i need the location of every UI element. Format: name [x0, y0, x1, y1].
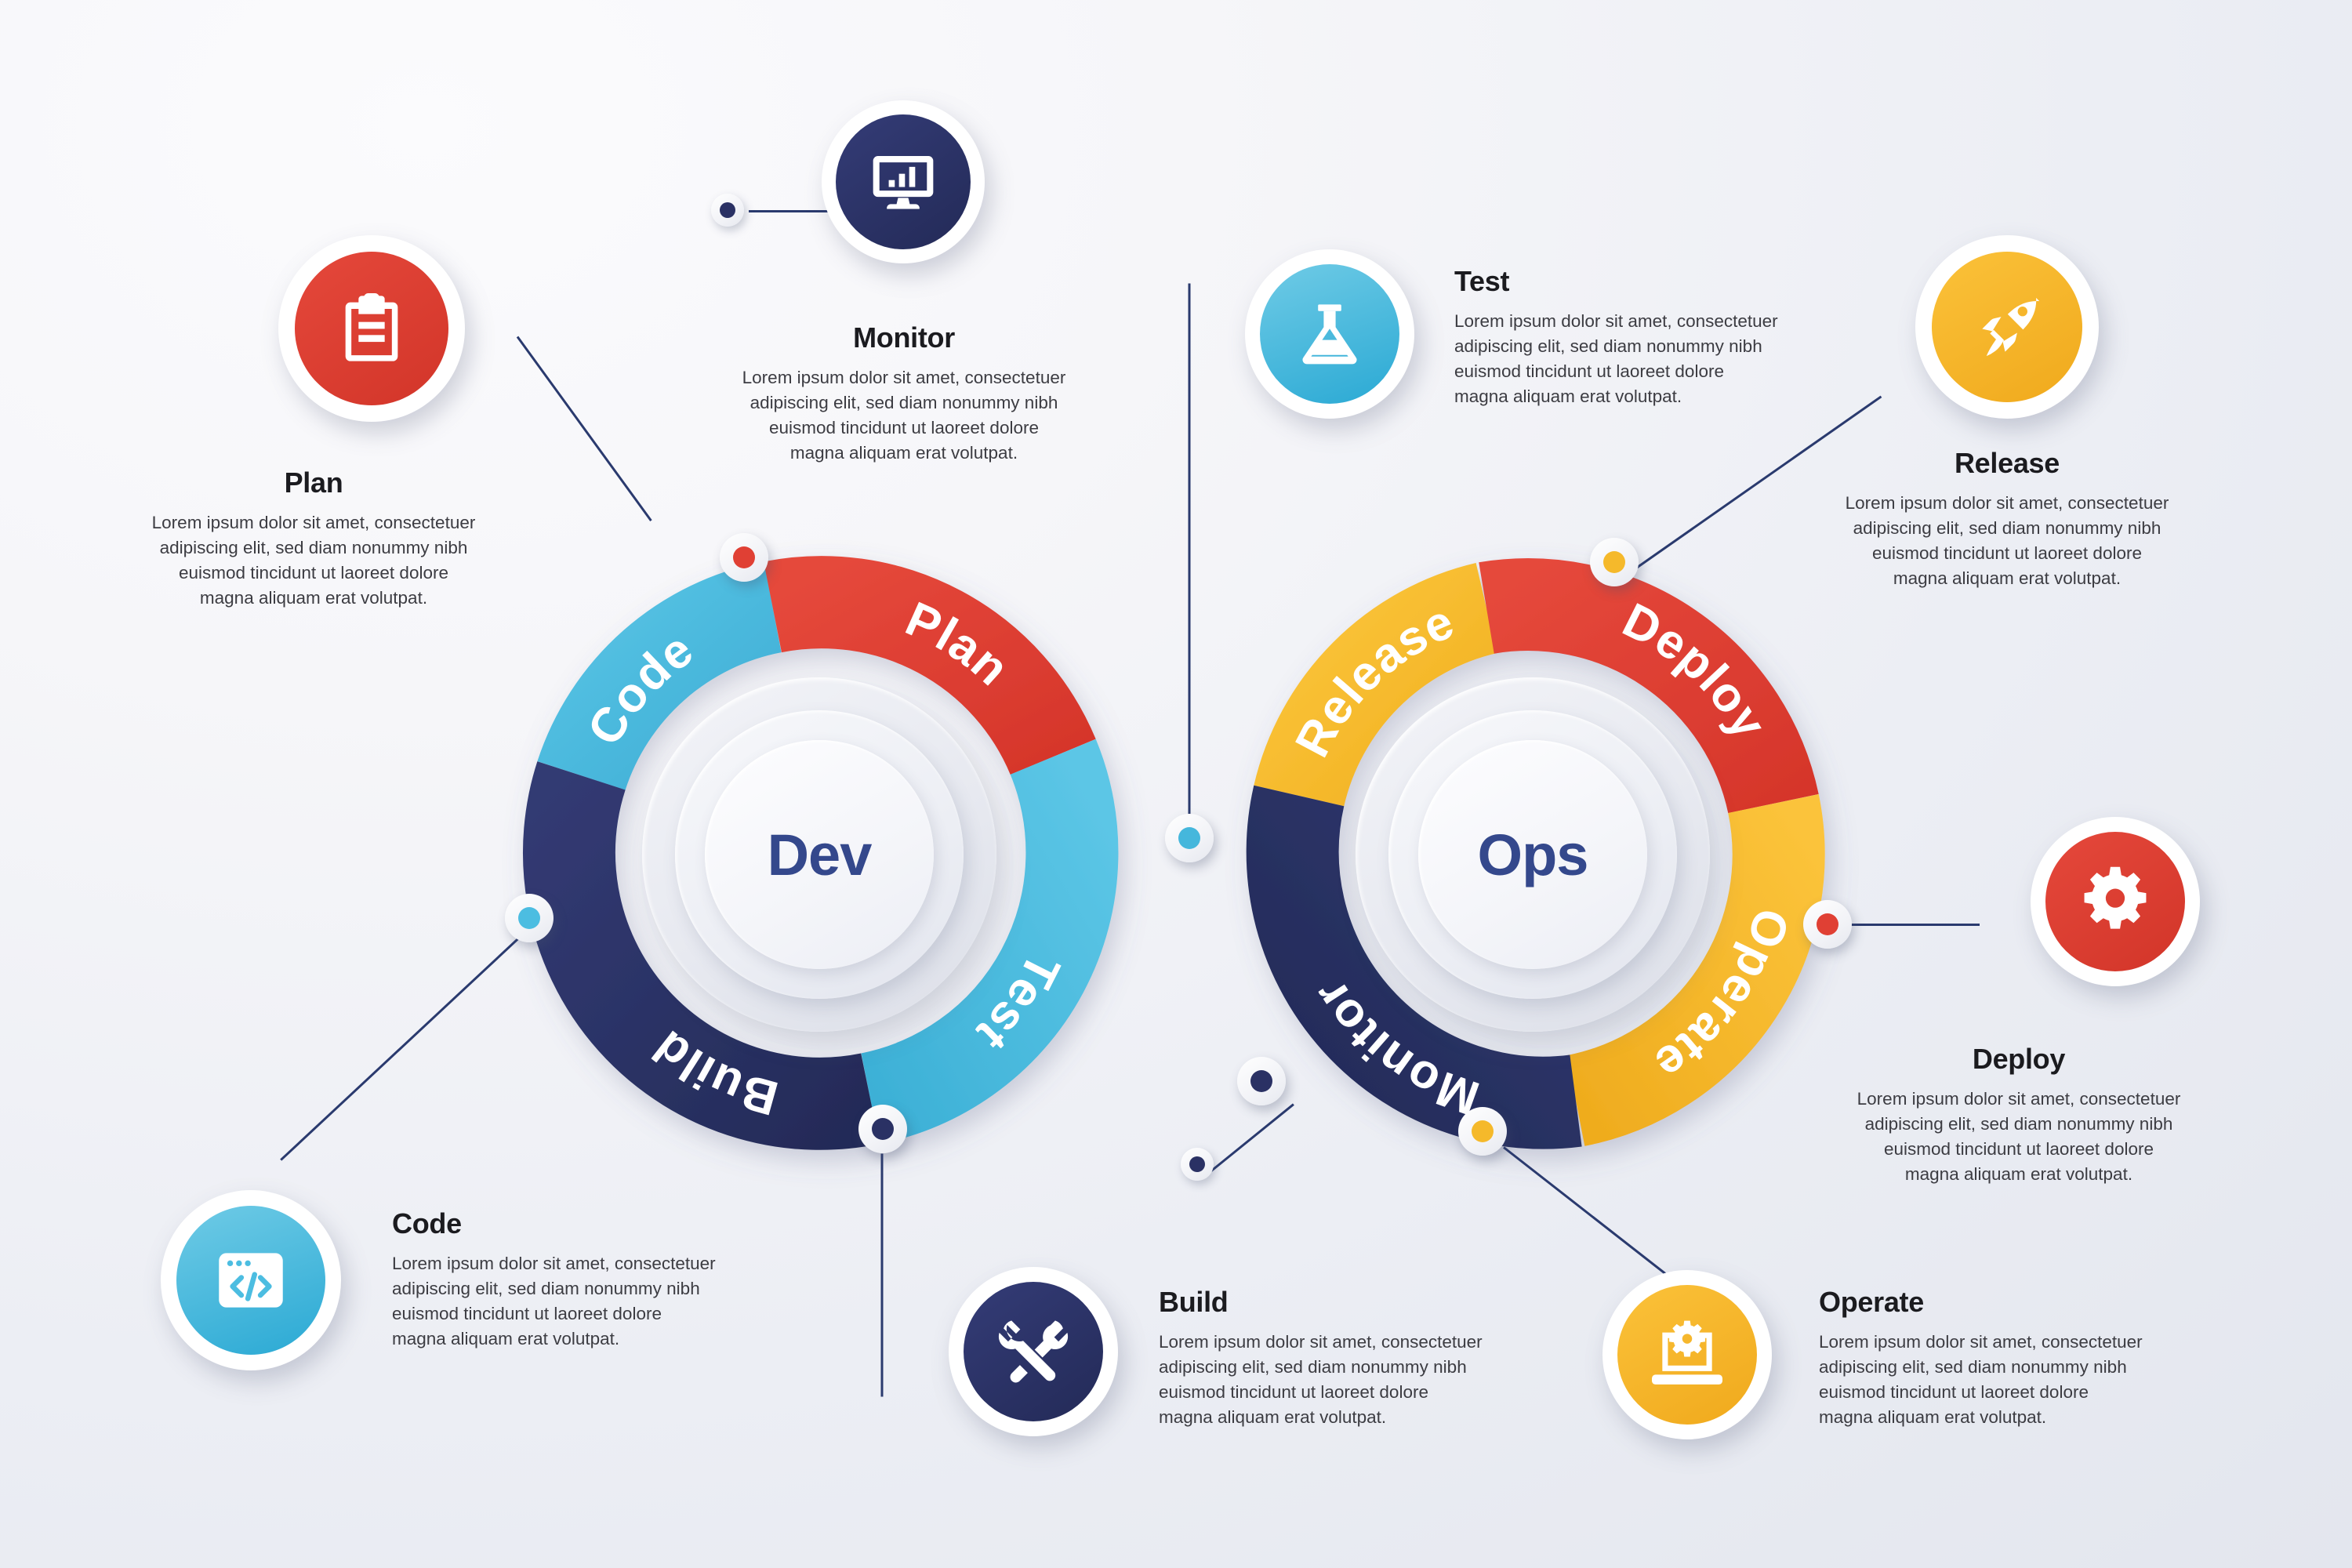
badge-operate-disc — [1617, 1285, 1757, 1425]
ops-hub-mid: Ops — [1388, 710, 1677, 999]
title-plan: Plan — [133, 466, 494, 499]
code-window-icon — [210, 1240, 292, 1321]
node-dot-deploy-core — [1817, 913, 1838, 935]
badge-code-disc — [176, 1206, 325, 1355]
rocket-icon — [1968, 288, 2046, 366]
badge-build-disc — [964, 1282, 1103, 1421]
node-dot-code[interactable] — [505, 894, 554, 942]
clipboard-icon — [332, 289, 411, 368]
ops-hub: Ops — [1356, 677, 1710, 1032]
badge-monitor[interactable] — [822, 100, 985, 263]
title-test: Test — [1454, 265, 1823, 298]
node-dot-test-center-core — [1178, 827, 1200, 849]
badge-deploy-disc — [2045, 832, 2185, 971]
leader-line-deploy — [1850, 924, 1980, 926]
dev-hub-inner: Dev — [705, 740, 934, 969]
leader-line-build — [881, 1154, 884, 1397]
node-dot-operate[interactable] — [1458, 1107, 1507, 1156]
node-dot-monitor-bottom[interactable] — [1237, 1057, 1286, 1105]
dev-hub-label: Dev — [768, 822, 872, 888]
badge-code[interactable] — [161, 1190, 341, 1370]
body-monitor: Lorem ipsum dolor sit amet, consectetuer… — [720, 365, 1088, 466]
badge-operate[interactable] — [1602, 1270, 1772, 1439]
text-block-build: Build Lorem ipsum dolor sit amet, consec… — [1159, 1286, 1527, 1430]
badge-release-disc — [1932, 252, 2082, 402]
badge-plan[interactable] — [278, 235, 465, 422]
infographic-canvas: Code Plan Test Build Release Deploy Oper… — [0, 0, 2352, 1568]
title-monitor: Monitor — [720, 321, 1088, 354]
dev-hub: Dev — [642, 677, 996, 1032]
node-dot-release[interactable] — [1590, 538, 1639, 586]
node-dot-monitor-tail[interactable] — [1181, 1148, 1214, 1181]
text-block-plan: Plan Lorem ipsum dolor sit amet, consect… — [133, 466, 494, 611]
dev-hub-mid: Dev — [675, 710, 964, 999]
node-dot-plan[interactable] — [720, 533, 768, 582]
laptop-gear-icon — [1648, 1316, 1726, 1394]
body-operate: Lorem ipsum dolor sit amet, consectetuer… — [1819, 1330, 2187, 1430]
title-build: Build — [1159, 1286, 1527, 1319]
ops-hub-label: Ops — [1478, 822, 1588, 888]
node-dot-monitor-bottom-core — [1250, 1070, 1272, 1092]
text-block-test: Test Lorem ipsum dolor sit amet, consect… — [1454, 265, 1823, 409]
monitor-chart-icon — [867, 146, 939, 218]
text-block-deploy: Deploy Lorem ipsum dolor sit amet, conse… — [1838, 1043, 2199, 1187]
node-dot-monitor-top[interactable] — [711, 194, 744, 227]
title-deploy: Deploy — [1838, 1043, 2199, 1076]
badge-deploy[interactable] — [2031, 817, 2200, 986]
title-operate: Operate — [1819, 1286, 2187, 1319]
ops-hub-inner: Ops — [1418, 740, 1647, 969]
text-block-operate: Operate Lorem ipsum dolor sit amet, cons… — [1819, 1286, 2187, 1430]
body-code: Lorem ipsum dolor sit amet, consectetuer… — [392, 1251, 760, 1352]
text-block-code: Code Lorem ipsum dolor sit amet, consect… — [392, 1207, 760, 1352]
node-dot-deploy[interactable] — [1803, 900, 1852, 949]
leader-line-test — [1189, 284, 1191, 848]
node-dot-plan-core — [733, 546, 755, 568]
badge-test-disc — [1260, 264, 1399, 404]
node-dot-build-core — [872, 1118, 894, 1140]
badge-test[interactable] — [1245, 249, 1414, 419]
gear-icon — [2074, 861, 2156, 942]
body-deploy: Lorem ipsum dolor sit amet, consectetuer… — [1838, 1087, 2199, 1187]
tools-icon — [994, 1312, 1073, 1391]
title-code: Code — [392, 1207, 760, 1240]
badge-monitor-disc — [836, 114, 971, 249]
node-dot-code-core — [518, 907, 540, 929]
node-dot-operate-core — [1472, 1120, 1494, 1142]
text-block-release: Release Lorem ipsum dolor sit amet, cons… — [1827, 447, 2187, 591]
node-dot-release-core — [1603, 551, 1625, 573]
node-dot-build[interactable] — [858, 1105, 907, 1153]
body-build: Lorem ipsum dolor sit amet, consectetuer… — [1159, 1330, 1527, 1430]
title-release: Release — [1827, 447, 2187, 480]
badge-build[interactable] — [949, 1267, 1118, 1436]
flask-icon — [1292, 296, 1367, 372]
badge-release[interactable] — [1915, 235, 2099, 419]
body-release: Lorem ipsum dolor sit amet, consectetuer… — [1827, 491, 2187, 591]
node-dot-monitor-tail-core — [1189, 1156, 1205, 1172]
leader-line-monitor-top — [749, 210, 839, 212]
node-dot-monitor-top-core — [720, 202, 735, 218]
node-dot-test-center[interactable] — [1165, 814, 1214, 862]
badge-plan-disc — [295, 252, 448, 405]
text-block-monitor: Monitor Lorem ipsum dolor sit amet, cons… — [720, 321, 1088, 466]
body-plan: Lorem ipsum dolor sit amet, consectetuer… — [133, 510, 494, 611]
body-test: Lorem ipsum dolor sit amet, consectetuer… — [1454, 309, 1823, 409]
